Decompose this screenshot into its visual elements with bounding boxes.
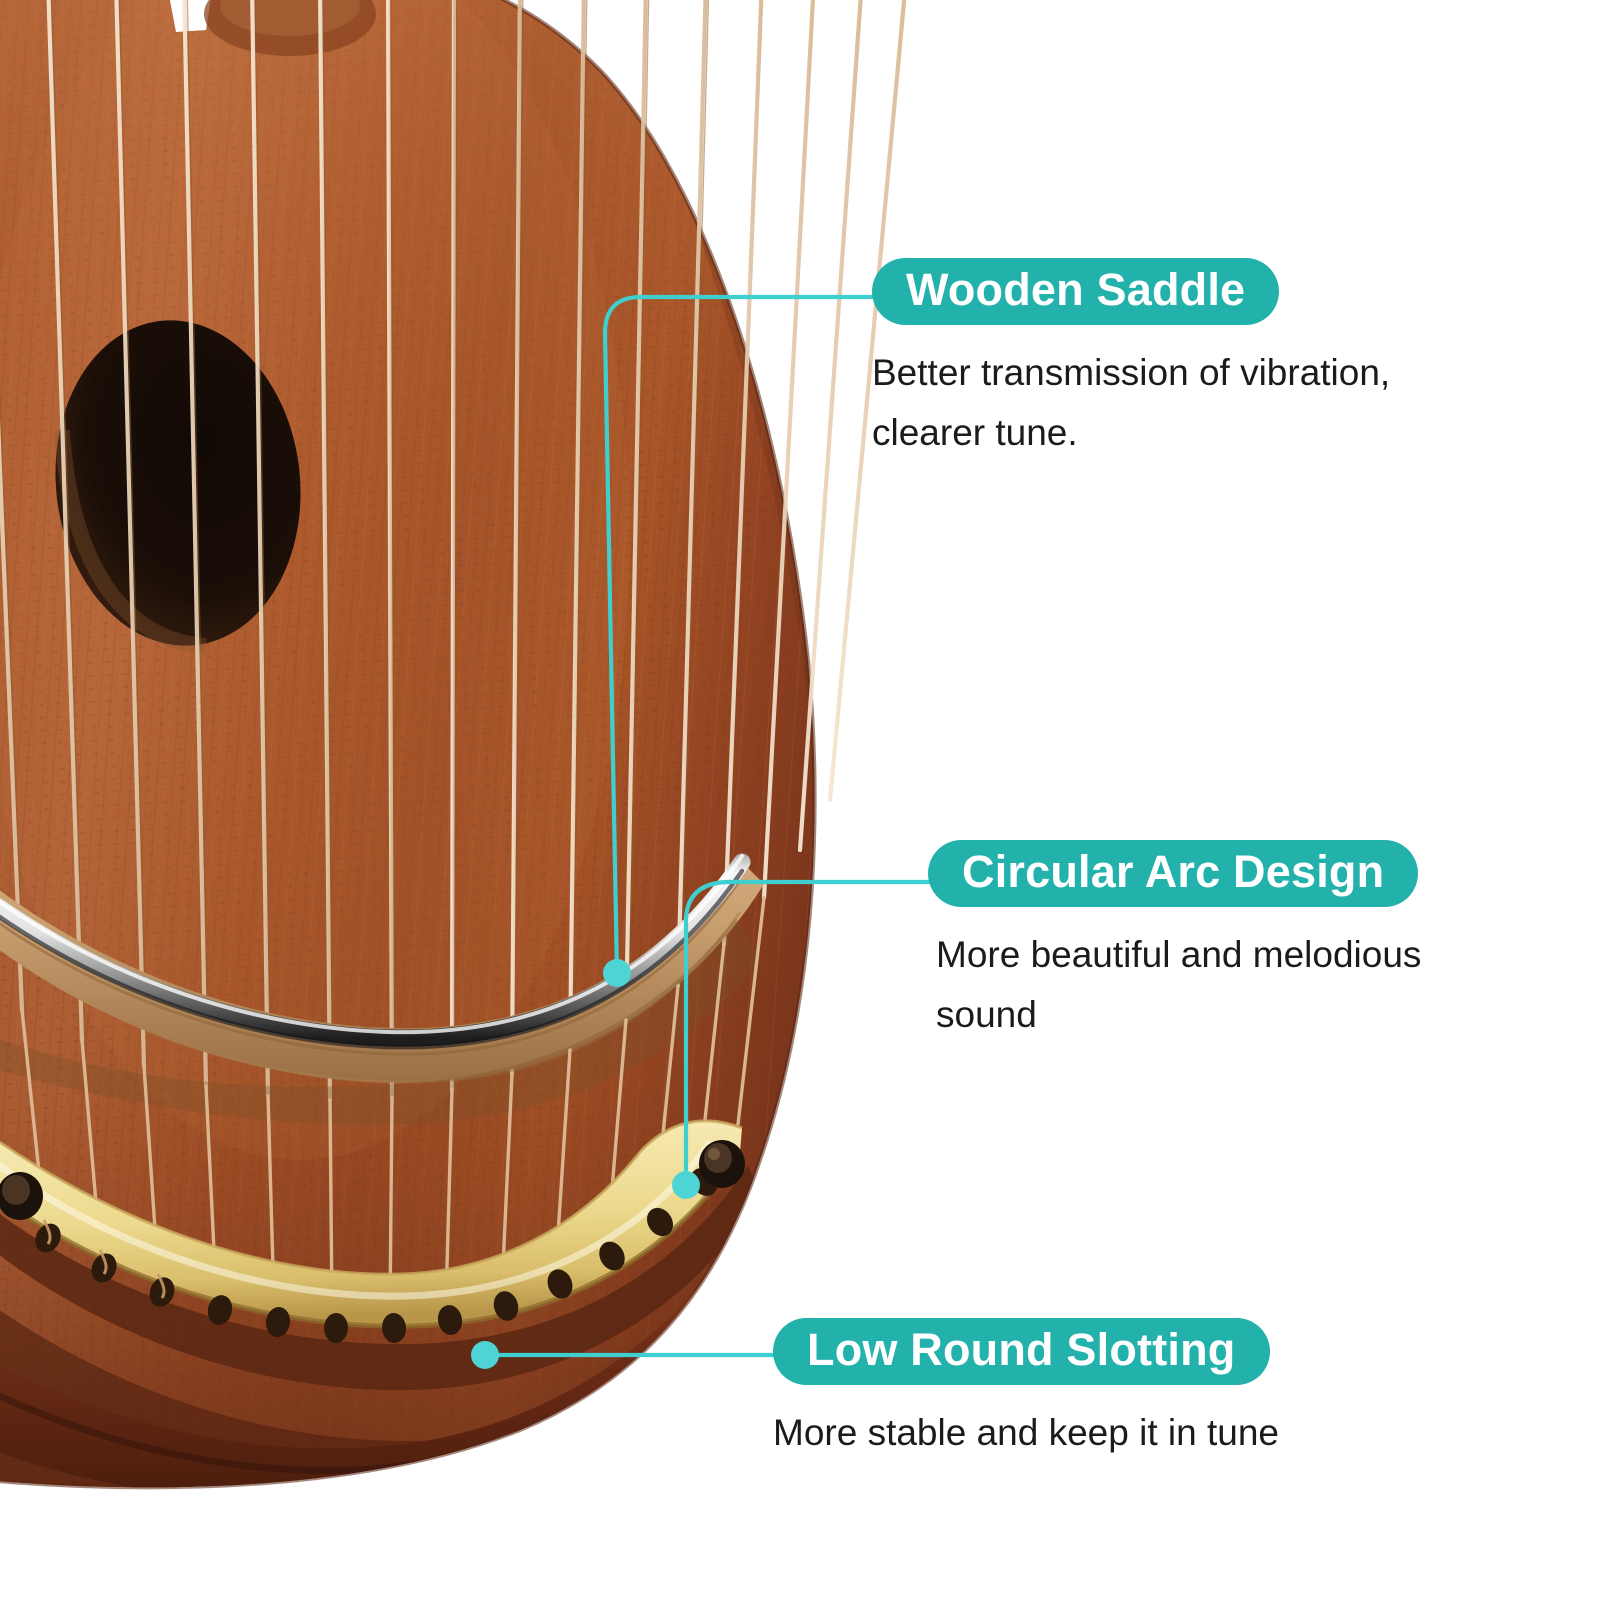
callout-wooden-saddle: Wooden Saddle Better transmission of vib… <box>872 258 1390 463</box>
infographic-canvas: Wooden Saddle Better transmission of vib… <box>0 0 1601 1601</box>
anchor-dot-circular-arc <box>672 1171 700 1199</box>
anchor-dot-wooden-saddle <box>603 959 631 987</box>
callout-badge-circular-arc: Circular Arc Design <box>928 840 1418 907</box>
callout-description-wooden-saddle: Better transmission of vibration, cleare… <box>872 343 1390 463</box>
callout-desc-line: More stable and keep it in tune <box>773 1403 1279 1463</box>
anchor-dot-low-round <box>471 1341 499 1369</box>
callout-description-circular-arc: More beautiful and melodious sound <box>936 925 1421 1045</box>
tuning-pin <box>699 1140 745 1188</box>
callout-description-low-round-slotting: More stable and keep it in tune <box>773 1403 1279 1463</box>
callout-desc-line: clearer tune. <box>872 403 1390 463</box>
callout-badge-low-round-slotting: Low Round Slotting <box>773 1318 1270 1385</box>
callout-circular-arc: Circular Arc Design More beautiful and m… <box>928 840 1421 1045</box>
callout-desc-line: sound <box>936 985 1421 1045</box>
callout-desc-line: Better transmission of vibration, <box>872 343 1390 403</box>
callout-low-round-slotting: Low Round Slotting More stable and keep … <box>773 1318 1279 1463</box>
callout-badge-wooden-saddle: Wooden Saddle <box>872 258 1279 325</box>
callout-desc-line: More beautiful and melodious <box>936 925 1421 985</box>
